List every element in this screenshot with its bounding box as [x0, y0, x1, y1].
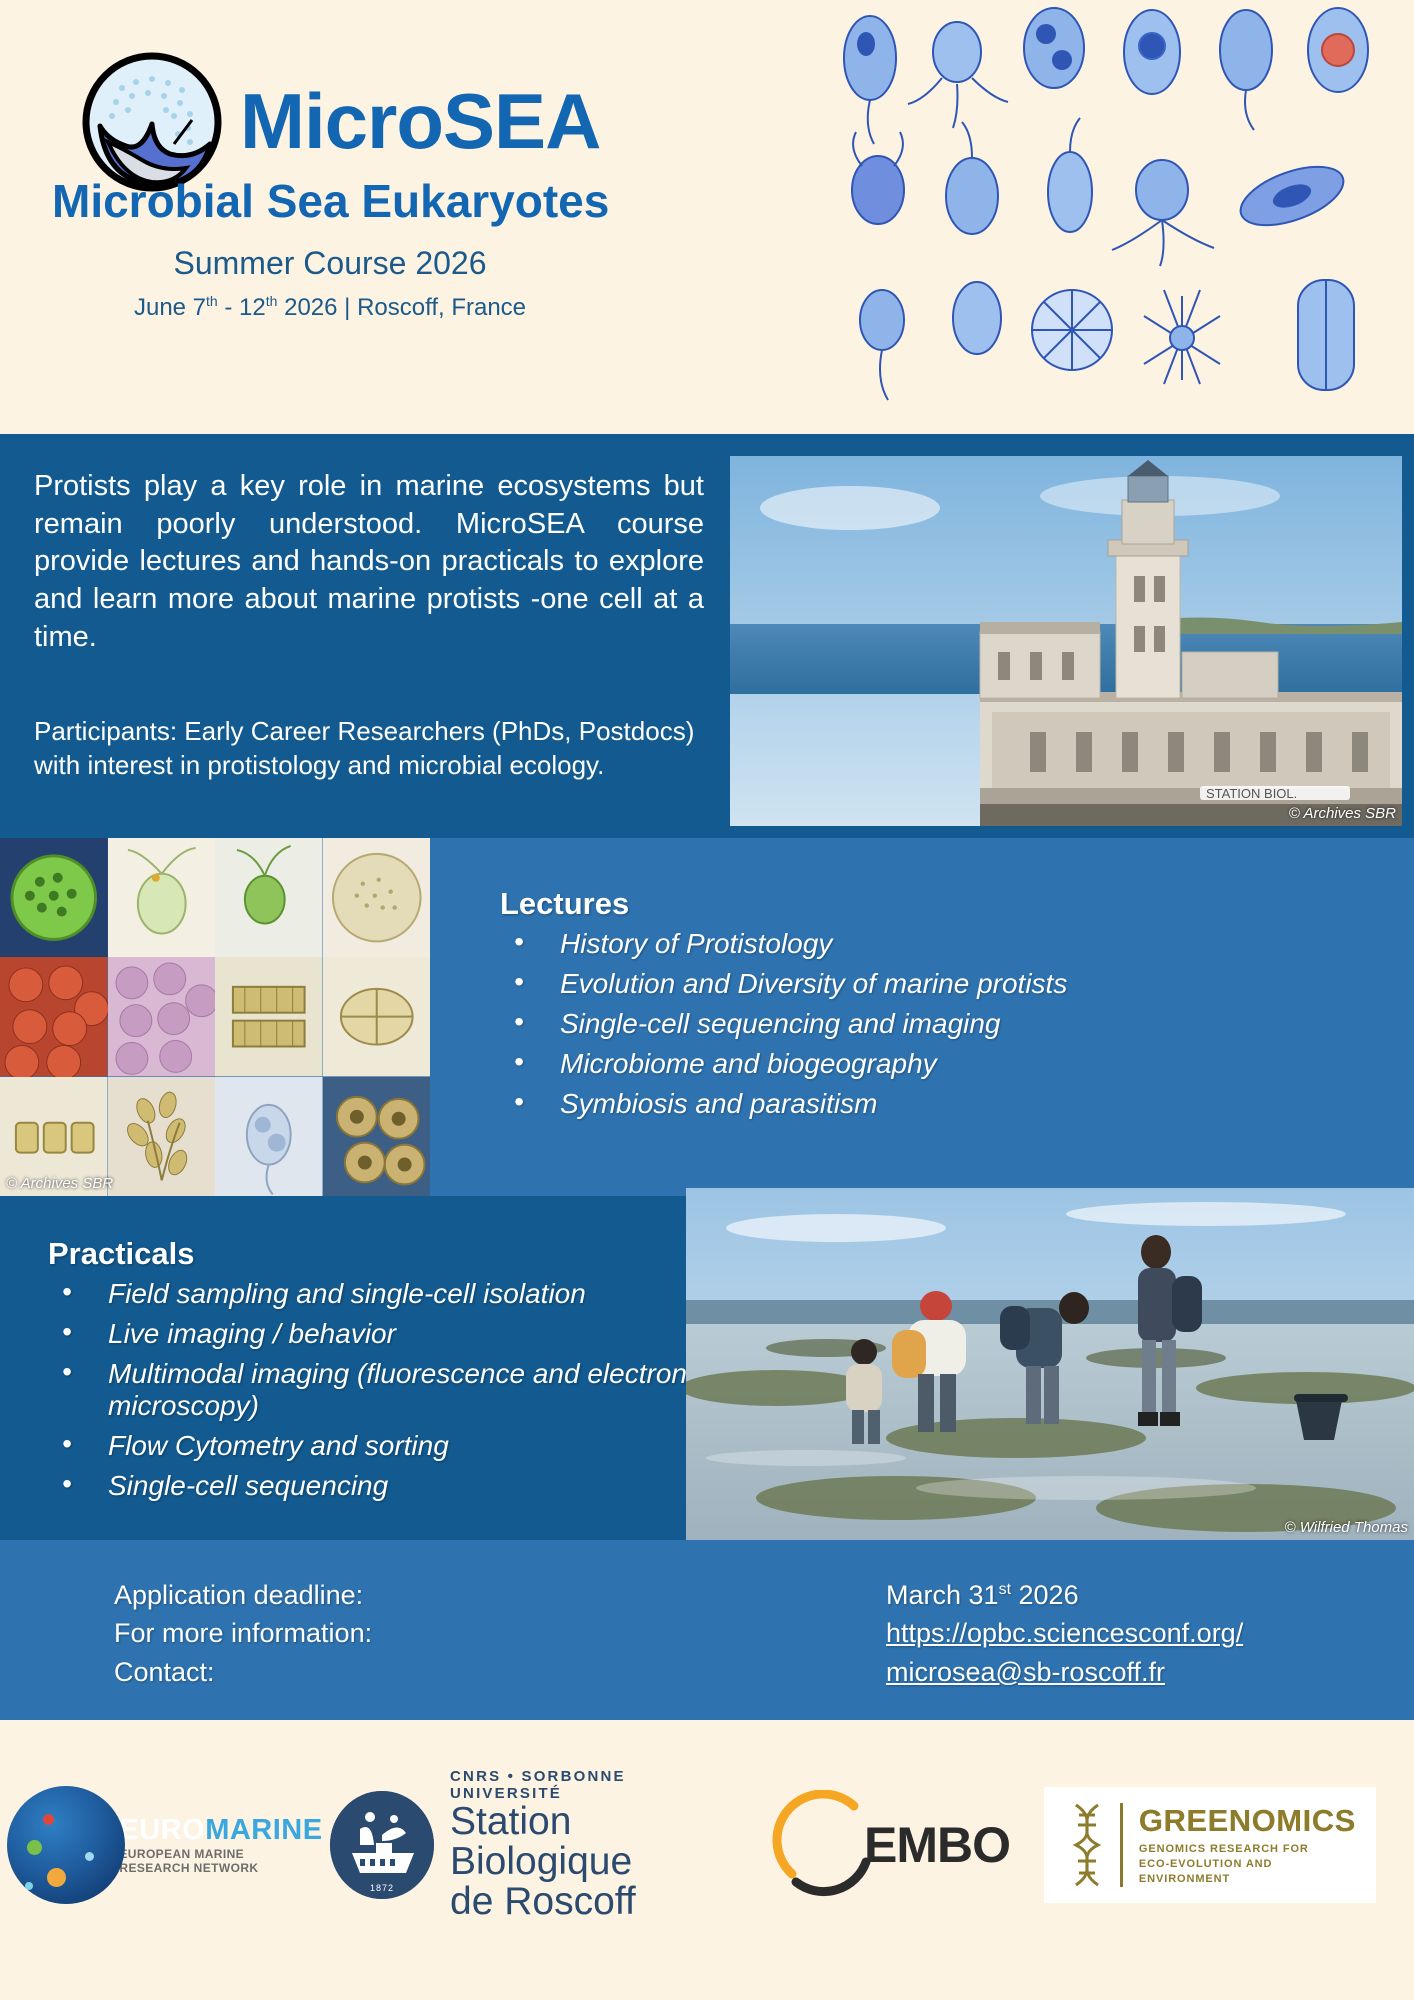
bullet-icon: • [62, 1276, 72, 1308]
greenomics-tagline-2: ECO-EVOLUTION AND ENVIRONMENT [1139, 1857, 1356, 1887]
embo-wordmark: EMBO [864, 1816, 1010, 1874]
mosaic-cell [215, 838, 323, 957]
bullet-icon: • [514, 1086, 524, 1118]
sbr-line-1: Station Biologique [450, 1802, 730, 1882]
list-item-label: History of Protistology [560, 928, 832, 959]
dna-helix-icon [1064, 1803, 1110, 1887]
lighthouse-photo: STATION BIOL. © Archives SBR [730, 456, 1402, 826]
list-item: •Microbiome and biogeography [500, 1048, 1380, 1080]
mosaic-cell [323, 1077, 431, 1196]
mosaic-credit: © Archives SBR [6, 1175, 113, 1192]
mosaic-cell [108, 838, 216, 957]
mosaic-cell [0, 838, 108, 957]
mosaic-cell [323, 838, 431, 957]
bullet-icon: • [514, 1046, 524, 1078]
bullet-icon: • [62, 1468, 72, 1500]
contact-section: Application deadline: For more informati… [0, 1540, 1414, 1720]
list-item-label: Flow Cytometry and sorting [108, 1430, 449, 1461]
greenomics-wordmark: GREENOMICS GENOMICS RESEARCH FOR ECO-EVO… [1139, 1803, 1356, 1887]
list-item-label: Live imaging / behavior [108, 1318, 396, 1349]
list-item-label: Symbiosis and parasitism [560, 1088, 877, 1119]
euromarine-euro: EURO [119, 1814, 205, 1846]
list-item: •Field sampling and single-cell isolatio… [48, 1278, 688, 1310]
poster-root: MicroSEA Microbial Sea Eukaryotes Summer… [0, 0, 1414, 2000]
intro-paragraph-text: Protists play a key role in marine ecosy… [34, 468, 704, 656]
list-item: •Flow Cytometry and sorting [48, 1430, 688, 1462]
contact-values: March 31st 2026 https://opbc.sciencescon… [886, 1576, 1243, 1691]
sbr-ship-icon: 1872 [330, 1791, 434, 1899]
mosaic-cell [108, 1077, 216, 1196]
bullet-icon: • [62, 1356, 72, 1388]
greenomics-tagline-1: GENOMICS RESEARCH FOR [1139, 1842, 1356, 1857]
course-line: Summer Course 2026 [0, 245, 660, 282]
deadline-ordinal: st [999, 1581, 1011, 1598]
list-item-label: Evolution and Diversity of marine protis… [560, 968, 1067, 999]
contact-label: Contact: [114, 1653, 372, 1691]
date-prefix: June 7 [134, 294, 206, 321]
lectures-list: •History of Protistology •Evolution and … [500, 928, 1380, 1120]
mosaic-cell [108, 957, 216, 1076]
sbr-top-line: CNRS • SORBONNE UNIVERSITÉ [450, 1768, 730, 1802]
page-subtitle: Microbial Sea Eukaryotes [52, 178, 609, 224]
bullet-icon: • [514, 966, 524, 998]
bullet-icon: • [514, 1006, 524, 1038]
embo-ring-icon [770, 1790, 880, 1900]
sbr-wordmark: CNRS • SORBONNE UNIVERSITÉ Station Biolo… [450, 1768, 730, 1922]
course-website-link[interactable]: https://opbc.sciencesconf.org/ [886, 1614, 1243, 1652]
list-item: •Live imaging / behavior [48, 1318, 688, 1350]
date-suffix: 2026 | Roscoff, France [277, 294, 526, 321]
intro-section: Protists play a key role in marine ecosy… [0, 434, 1414, 838]
microscopy-mosaic: © Archives SBR [0, 838, 430, 1196]
date-sup-1: th [206, 293, 218, 309]
logo-divider [1120, 1803, 1123, 1887]
deadline-label: Application deadline: [114, 1576, 372, 1614]
svg-text:1872: 1872 [370, 1883, 394, 1893]
list-item: •Single-cell sequencing [48, 1470, 688, 1502]
date-sup-2: th [266, 293, 278, 309]
lectures-title: Lectures [500, 886, 1380, 922]
list-item-label: Multimodal imaging (fluorescence and ele… [108, 1358, 687, 1421]
intro-paragraph: Protists play a key role in marine ecosy… [34, 468, 704, 656]
euromarine-tagline-2: RESEARCH NETWORK [119, 1862, 322, 1876]
fieldwork-photo: © Wilfried Thomas [686, 1188, 1414, 1540]
info-label: For more information: [114, 1614, 372, 1652]
bullet-icon: • [62, 1428, 72, 1460]
sbr-line-2: de Roscoff [450, 1882, 730, 1922]
page-title: MicroSEA [240, 82, 600, 160]
contact-labels: Application deadline: For more informati… [114, 1576, 372, 1691]
practicals-title: Practicals [48, 1236, 688, 1272]
bullet-icon: • [62, 1316, 72, 1348]
mosaic-cell [215, 957, 323, 1076]
fieldwork-photo-credit: © Wilfried Thomas [1285, 1519, 1408, 1536]
list-item: •History of Protistology [500, 928, 1380, 960]
footer-section: EUROMARINE EUROPEAN MARINE RESEARCH NETW… [0, 1720, 1414, 2000]
header-section: MicroSEA Microbial Sea Eukaryotes Summer… [0, 0, 1414, 434]
practicals-content: Practicals •Field sampling and single-ce… [48, 1236, 688, 1509]
mosaic-cell [323, 957, 431, 1076]
logo-greenomics: GREENOMICS GENOMICS RESEARCH FOR ECO-EVO… [1050, 1787, 1370, 1903]
sponsor-logos: EUROMARINE EUROPEAN MARINE RESEARCH NETW… [0, 1750, 1414, 1940]
mosaic-cell [215, 1077, 323, 1196]
lighthouse-photo-credit: © Archives SBR [1289, 805, 1396, 822]
protist-illustration-band [822, 0, 1414, 432]
list-item-label: Single-cell sequencing and imaging [560, 1008, 1001, 1039]
euromarine-tagline-1: EUROPEAN MARINE [119, 1848, 322, 1862]
list-item-label: Microbiome and biogeography [560, 1048, 937, 1079]
deadline-value: March 31st 2026 [886, 1576, 1243, 1614]
logo-euromarine: EUROMARINE EUROPEAN MARINE RESEARCH NETW… [0, 1786, 330, 1904]
participants-paragraph: Participants: Early Career Researchers (… [34, 714, 724, 783]
list-item-label: Single-cell sequencing [108, 1470, 388, 1501]
participants-text: Participants: Early Career Researchers (… [34, 714, 724, 783]
list-item: •Multimodal imaging (fluorescence and el… [48, 1358, 688, 1422]
practicals-section: Practicals •Field sampling and single-ce… [0, 1196, 1414, 1540]
lectures-section: © Archives SBR Lectures •History of Prot… [0, 838, 1414, 1196]
greenomics-name: GREENOMICS [1139, 1803, 1356, 1839]
logo-station-biologique: 1872 CNRS • SORBONNE UNIVERSITÉ Station … [330, 1768, 730, 1922]
deadline-date: March 31 [886, 1580, 999, 1610]
list-item: •Single-cell sequencing and imaging [500, 1008, 1380, 1040]
euromarine-marine: MARINE [205, 1814, 322, 1846]
euromarine-globe-icon [7, 1786, 125, 1904]
microsea-logo-icon [78, 52, 226, 192]
svg-text:STATION BIOL.: STATION BIOL. [1206, 786, 1297, 801]
practicals-list: •Field sampling and single-cell isolatio… [48, 1278, 688, 1501]
deadline-year: 2026 [1011, 1580, 1079, 1610]
logo-embo: EMBO [730, 1790, 1050, 1900]
date-line: June 7th - 12th 2026 | Roscoff, France [0, 293, 660, 322]
euromarine-wordmark: EUROMARINE EUROPEAN MARINE RESEARCH NETW… [119, 1814, 322, 1876]
contact-email-link[interactable]: microsea@sb-roscoff.fr [886, 1653, 1243, 1691]
list-item: •Evolution and Diversity of marine proti… [500, 968, 1380, 1000]
bullet-icon: • [514, 926, 524, 958]
mosaic-cell [0, 957, 108, 1076]
list-item: •Symbiosis and parasitism [500, 1088, 1380, 1120]
lectures-content: Lectures •History of Protistology •Evolu… [500, 886, 1380, 1128]
date-mid: - 12 [218, 294, 266, 321]
list-item-label: Field sampling and single-cell isolation [108, 1278, 586, 1309]
